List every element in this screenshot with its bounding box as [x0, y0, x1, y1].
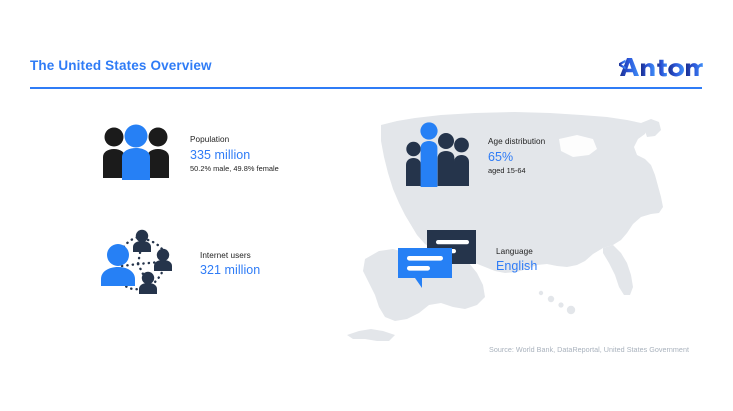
stat-subtext: 50.2% male, 49.8% female: [190, 164, 279, 174]
network-users-icon: [98, 222, 180, 307]
stat-age-distribution-text: Age distribution 65% aged 15-64: [488, 137, 545, 175]
stat-internet-users: Internet users 321 million: [98, 222, 260, 307]
stat-age-distribution: Age distribution 65% aged 15-64: [404, 120, 545, 193]
source-note: Source: World Bank, DataReportal, United…: [489, 345, 689, 354]
stat-internet-users-text: Internet users 321 million: [200, 251, 260, 279]
stat-language-text: Language English: [496, 247, 537, 275]
stat-population-text: Population 335 million 50.2% male, 49.8%…: [190, 135, 279, 173]
stat-language: Language English: [396, 228, 537, 293]
stat-value: 321 million: [200, 262, 260, 279]
speech-bubbles-icon: [396, 228, 480, 293]
slide-canvas: The United States Overview: [0, 0, 733, 411]
stat-label: Internet users: [200, 251, 260, 262]
stat-value: 65%: [488, 149, 545, 166]
title-divider: [30, 87, 702, 89]
page-title: The United States Overview: [30, 58, 212, 73]
group-of-people-icon: [100, 124, 172, 185]
stat-subtext: aged 15-64: [488, 166, 545, 176]
stat-label: Age distribution: [488, 137, 545, 148]
stat-value: English: [496, 258, 537, 275]
stat-label: Population: [190, 135, 279, 146]
antom-logo: [617, 55, 703, 79]
stat-population: Population 335 million 50.2% male, 49.8%…: [100, 124, 279, 185]
stat-value: 335 million: [190, 147, 279, 164]
people-heights-icon: [404, 120, 470, 193]
stat-label: Language: [496, 247, 537, 258]
